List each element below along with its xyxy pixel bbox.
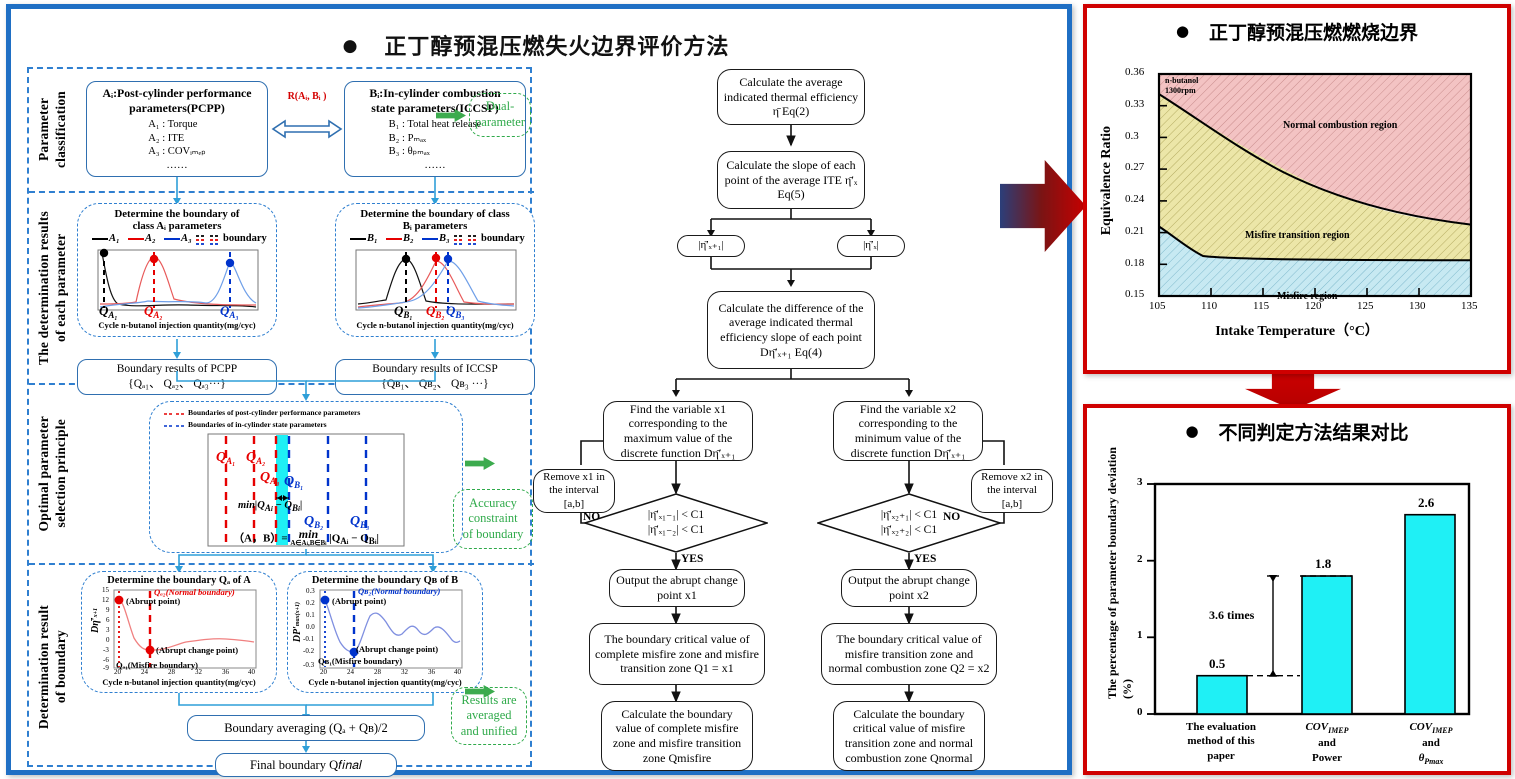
flow-node-calc-slope: Calculate the slope of each point of the…: [717, 151, 865, 209]
panelQA-yt-7: -6: [103, 656, 109, 664]
panelQA-xaxis: Cycle n-butanol injection quantity(mg/cy…: [82, 678, 276, 687]
flowchart: Calculate the average indicated thermal …: [541, 69, 1061, 769]
panelA-legend-A1: A₁: [109, 233, 120, 244]
rt-ytick-0.15: 0.15: [1125, 288, 1144, 300]
bullet-icon-top: ●: [1176, 22, 1189, 40]
relation-label: R(Aᵢ, Bᵢ ): [271, 91, 343, 102]
panelA-QA2: QA₂: [144, 303, 163, 320]
flow-decision-left-cond1: |η̄′ₓ₁₋₁| < C1: [648, 508, 704, 523]
box-iccsp-item-2: B₃ : θₚₘₐₓ: [389, 145, 482, 159]
flow-node-find-x2-text: Find the variable x2 corresponding to th…: [839, 402, 977, 461]
stage3-label-line2: selection principle: [53, 420, 68, 528]
right-top-title: ●正丁醇预混压燃燃烧边界: [1087, 18, 1507, 45]
right-top-panel: ●正丁醇预混压燃燃烧边界: [1083, 4, 1511, 374]
panelQA-xt-1: 24: [141, 668, 148, 676]
bar-value-1: 1.8: [1315, 556, 1331, 572]
callout-results-line2: averaged: [466, 708, 511, 724]
panelA-QA1: QA₁: [99, 303, 118, 320]
bar-cat0-line3: paper: [1161, 749, 1281, 763]
right-top-title-text: 正丁醇预混压燃燃烧边界: [1209, 22, 1418, 44]
panelQB-xt-1: 24: [347, 668, 354, 676]
bar-annotation-times: 3.6 times: [1209, 608, 1254, 623]
rb-ylabel: The percentage of parameter boundary dev…: [1105, 444, 1135, 699]
panelA-title1: Determine the boundary of: [78, 208, 276, 220]
rt-xtick-135: 135: [1461, 300, 1478, 312]
flow-node-calc-difference: Calculate the difference of the average …: [707, 291, 875, 369]
panelQB-ylabel: DP′max(x+1): [292, 602, 303, 642]
rt-xtick-125: 125: [1357, 300, 1374, 312]
green-arrow-icon-accuracy: [465, 457, 495, 470]
rt-ytick-0.36: 0.36: [1125, 66, 1144, 78]
bar-category-2: COVIMEP and θPmax: [1379, 720, 1483, 767]
panelQB-yt-1: 0.2: [306, 599, 315, 607]
stage2-label-line2: of each parameter: [53, 234, 68, 342]
bar-cat1-line2: and: [1275, 736, 1379, 750]
bullet-icon-bot: ●: [1185, 422, 1198, 440]
panelA-xaxis: Cycle n-butanol injection quantity(mg/cy…: [78, 320, 276, 330]
callout-accuracy-line3: of boundary: [463, 527, 524, 543]
bar-cat2-line3: θPmax: [1379, 751, 1483, 767]
optimal-QB3: QB₃: [350, 514, 369, 530]
result-pcpp-line1: Boundary results of PCPP: [117, 362, 237, 377]
optimal-min-expr: min|QAi − QBi|: [238, 500, 302, 513]
right-bottom-title: ●不同判定方法结果对比: [1087, 418, 1507, 445]
stage-label-parameter-classification: Parameter classification: [33, 69, 73, 191]
flow-node-critical-Q1: The boundary critical value of complete …: [589, 623, 765, 685]
panel-class-A-boundary: Determine the boundary of class Aᵢ param…: [77, 203, 277, 337]
box-pcpp-item-3: ……: [148, 159, 206, 173]
flow-node-calc-qmisfire-text: Calculate the boundary value of complete…: [607, 707, 747, 766]
rt-xtick-115: 115: [1253, 300, 1269, 312]
flow-decision-left: |η̄′ₓ₁₋₁| < C1 |η̄′ₓ₁₋₂| < C1: [584, 493, 768, 553]
flow-node-calc-difference-text: Calculate the difference of the average …: [713, 301, 869, 360]
panelB-xaxis: Cycle n-butanol injection quantity(mg/cy…: [336, 320, 534, 330]
bar-cat0-line2: method of this: [1161, 734, 1281, 748]
stage4-label-line2: of boundary: [53, 630, 68, 703]
panelQB-title: Determine the boundary Qʙ of B: [288, 575, 482, 586]
panelQA-xt-5: 40: [248, 668, 255, 676]
flow-node-critical-Q1-text: The boundary critical value of complete …: [595, 632, 759, 676]
panelB-QB2: QB₂: [426, 303, 445, 320]
flow-node-calc-qnormal-text: Calculate the boundary critical value of…: [839, 707, 979, 766]
stage3-label-line1: Optimal parameter: [36, 416, 51, 532]
box-iccsp-item-1: B₂ : Pₘₐₓ: [389, 132, 482, 146]
stages-container: Parameter classification Aᵢ:Post-cylinde…: [27, 67, 532, 767]
flow-node-output-x2: Output the abrupt change point x2: [841, 569, 977, 607]
panelQA-abrupt-change: (Abrupt change point): [156, 645, 238, 655]
rt-ytick-0.27: 0.27: [1125, 161, 1144, 173]
stage-label-line2: classification: [53, 91, 68, 168]
result-iccsp-line1: Boundary results of ICCSP: [372, 362, 498, 377]
right-bottom-panel: ●不同判定方法结果对比 0.5 1.8 2.6 3.6 times: [1083, 404, 1511, 775]
bar-cat1-line1: COVIMEP: [1275, 720, 1379, 736]
panelA-title2: class Aᵢ parameters: [78, 220, 276, 232]
flow-node-calc-avg-ite-text: Calculate the average indicated thermal …: [723, 75, 859, 119]
chart-annotation-line2: 1300rpm: [1165, 86, 1198, 96]
optimal-legend-blue: Boundaries of in-cylinder state paramete…: [188, 420, 327, 429]
flow-decision-right-cond1: |η̄′ₓ₂₊₁| < C1: [881, 508, 937, 523]
bar-cat1-line3: Power: [1275, 751, 1379, 765]
panelB-QB3: QB₃: [446, 303, 465, 320]
panelQB-xt-5: 40: [454, 668, 461, 676]
box-iccsp-item-0: B₁ : Total heat release: [389, 118, 482, 132]
flow-node-find-x1: Find the variable x1 corresponding to th…: [603, 401, 753, 461]
callout-accuracy-line2: constraint: [468, 511, 517, 527]
rt-xtick-110: 110: [1201, 300, 1217, 312]
flow-node-output-x1: Output the abrupt change point x1: [609, 569, 745, 607]
panelB-QB1: QB₁: [394, 303, 413, 320]
flow-node-critical-Q2: The boundary critical value of misfire t…: [821, 623, 997, 685]
panelQA-misfire-label: Qₐ₁(Misfire boundary): [116, 660, 198, 670]
panelQB-misfire-label: Qʙ₁(Misfire boundary): [318, 656, 402, 666]
flow-node-calc-avg-ite: Calculate the average indicated thermal …: [717, 69, 865, 125]
flow-node-output-x2-text: Output the abrupt change point x2: [847, 573, 971, 602]
flow-decision-right: |η̄′ₓ₂₊₁| < C1 |η̄′ₓ₂₊₂| < C1: [817, 493, 1001, 553]
flow-node-calc-qmisfire: Calculate the boundary value of complete…: [601, 701, 753, 771]
callout-results-line3: and unified: [461, 724, 518, 740]
rt-ytick-0.18: 0.18: [1125, 257, 1144, 269]
callout-results-averaged: Results are averaged and unified: [451, 687, 527, 745]
bar-value-0: 0.5: [1209, 656, 1225, 672]
panel-optimal-selection: Boundaries of post-cylinder performance …: [149, 401, 463, 553]
rt-ytick-0.30: 0.3: [1125, 130, 1139, 142]
flow-label-no-right: NO: [943, 511, 960, 523]
panelQA-yt-3: 6: [106, 616, 110, 624]
flow-node-critical-Q2-text: The boundary critical value of misfire t…: [827, 632, 991, 676]
rt-xtick-130: 130: [1409, 300, 1426, 312]
panelQA-xt-2: 28: [168, 668, 175, 676]
flow-node-output-x1-text: Output the abrupt change point x1: [615, 573, 739, 602]
flow-node-calc-slope-text: Calculate the slope of each point of the…: [723, 158, 859, 202]
callout-dual-parameter: Dual- parameter: [469, 93, 531, 137]
flow-label-no-left: NO: [583, 511, 600, 523]
flow-node-eta-x-text: |η̄′ₓ|: [863, 239, 879, 252]
panelQA-yt-5: 0: [106, 636, 110, 644]
stage-label-determination-results: The determination results of each parame…: [33, 193, 73, 383]
panelQB-normal-label: Qʙ₂(Normal boundary): [358, 586, 440, 596]
rb-ytick-3: 3: [1137, 476, 1143, 488]
flow-node-calc-qnormal: Calculate the boundary critical value of…: [833, 701, 985, 771]
panelQA-xt-4: 36: [222, 668, 229, 676]
panelQA-abrupt-point: (Abrupt point): [126, 596, 180, 606]
optimal-formula: （A，B）= min A∈Ai,B∈Bi |QAi − QBi|: [150, 529, 462, 548]
panelQA-yt-4: 3: [106, 626, 110, 634]
bullet-icon: ●: [343, 36, 359, 56]
panelQB-xt-3: 32: [401, 668, 408, 676]
stage-determination-results: The determination results of each parame…: [29, 193, 534, 385]
rt-ytick-0.21: 0.21: [1125, 225, 1144, 237]
panelA-legend-A2: A₂: [145, 233, 156, 244]
rt-ytick-0.24: 0.24: [1125, 193, 1144, 205]
rb-ytick-2: 2: [1137, 553, 1143, 565]
panelB-title1: Determine the boundary of class: [336, 208, 534, 220]
box-pcpp-item-0: A₁ : Torque: [148, 118, 206, 132]
panelB-legend-boundary: boundary: [481, 233, 525, 244]
box-pcpp-item-1: A₂ : ITE: [148, 132, 206, 146]
panelQA-yt-1: 12: [102, 596, 109, 604]
bar-category-0: The evaluation method of this paper: [1161, 720, 1281, 763]
callout-accuracy-constraint: Accuracy constraint of boundary: [453, 489, 533, 549]
flow-decision-right-cond2: |η̄′ₓ₂₊₂| < C1: [881, 523, 937, 538]
panelQB-yt-5: -0.2: [303, 647, 314, 655]
box-boundary-averaging: Boundary averaging (Qₐ + Qʙ)/2: [187, 715, 425, 741]
callout-dual-line1: Dual-: [486, 99, 514, 115]
bar-value-2: 2.6: [1418, 495, 1434, 511]
rb-ytick-0: 0: [1137, 706, 1143, 718]
flow-node-eta-x: |η̄′ₓ|: [837, 235, 905, 257]
callout-dual-line2: parameter: [475, 115, 525, 131]
panelQA-yt-0: 15: [102, 586, 109, 594]
main-title-text: 正丁醇预混压燃失火边界评价方法: [384, 35, 729, 60]
chart-annotation-fuel: n-butanol 1300rpm: [1165, 76, 1198, 95]
rt-ytick-0.33: 0.33: [1125, 98, 1144, 110]
flow-node-find-x2: Find the variable x2 corresponding to th…: [833, 401, 983, 461]
box-iccsp-item-3: ……: [389, 159, 482, 173]
panelQB-abrupt-change: (Abrupt change point): [356, 644, 438, 654]
optimal-QA2: QA₂: [246, 450, 265, 466]
panelQA-xt-0: 20: [114, 668, 121, 676]
panel-class-B-boundary: Determine the boundary of class Bᵢ param…: [335, 203, 535, 337]
panelB-legend-B2: B₂: [403, 233, 414, 244]
optimal-QA1: QA₁: [216, 450, 235, 466]
panelQB-yt-2: 0.1: [306, 611, 315, 619]
panelQB-xaxis: Cycle n-butanol injection quantity(mg/cy…: [288, 678, 482, 687]
rb-ytick-1: 1: [1137, 629, 1143, 641]
rt-ylabel: Equivalence Ratio: [1099, 126, 1115, 235]
box-pcpp-title2: parameters(PCPP): [129, 101, 225, 116]
bar-category-1: COVIMEP and Power: [1275, 720, 1379, 765]
stage-label-determination-boundary: Determination result of boundary: [33, 565, 73, 769]
region-label-transition: Misfire transition region: [1245, 230, 1350, 241]
left-main-panel: ●正丁醇预混压燃失火边界评价方法 Parameter classificatio…: [6, 4, 1072, 775]
stage-label-optimal-selection: Optimal parameter selection principle: [33, 385, 73, 563]
rt-xlabel: Intake Temperature（°C）: [1087, 320, 1507, 340]
panel-boundary-QB: Determine the boundary Qʙ of B 0.3 0.2 0…: [287, 571, 483, 693]
box-pcpp-item-2: A₃ : COVᵢₘₑₚ: [148, 145, 206, 159]
panelQB-yt-0: 0.3: [306, 587, 315, 595]
panelA-legend-boundary: boundary: [223, 233, 267, 244]
optimal-QB1: QB₁: [284, 474, 303, 490]
flow-node-find-x1-text: Find the variable x1 corresponding to th…: [609, 402, 747, 461]
panel-boundary-QA: Determine the boundary Qₐ of A 15 12 9 6…: [81, 571, 277, 693]
optimal-QA3: QA₃: [260, 470, 279, 486]
box-pcpp-title1: Aᵢ:Post-cylinder performance: [103, 86, 252, 101]
panelQB-xt-4: 36: [428, 668, 435, 676]
panelA-QA3: QA₃: [220, 303, 239, 320]
panelQA-xt-3: 32: [195, 668, 202, 676]
stage-parameter-classification: Parameter classification Aᵢ:Post-cylinde…: [29, 69, 534, 193]
box-pcpp: Aᵢ:Post-cylinder performance parameters(…: [86, 81, 268, 177]
callout-results-line1: Results are: [461, 693, 516, 709]
rt-xtick-105: 105: [1149, 300, 1166, 312]
bar-cat2-line1: COVIMEP: [1379, 720, 1483, 736]
bar-cat0-line1: The evaluation: [1161, 720, 1281, 734]
panelQA-title: Determine the boundary Qₐ of A: [82, 575, 276, 586]
region-label-normal: Normal combustion region: [1283, 120, 1397, 131]
flow-label-yes-left: YES: [681, 553, 703, 565]
panelQB-xt-0: 20: [320, 668, 327, 676]
box-final-boundary: Final boundary Q𝑓𝑖𝑛𝑎𝑙: [215, 753, 397, 777]
panelA-legend-A3: A₃: [181, 233, 192, 244]
comparison-bar-chart: [1087, 452, 1507, 742]
flow-decision-left-cond2: |η̄′ₓ₁₋₂| < C1: [648, 523, 704, 538]
page-title: ●正丁醇预混压燃失火边界评价方法: [11, 29, 1061, 61]
panelQB-yt-6: -0.3: [303, 661, 314, 669]
panelQA-yt-2: 9: [106, 606, 110, 614]
callout-accuracy-line1: Accuracy: [469, 496, 517, 512]
panelB-title2: Bᵢ parameters: [336, 220, 534, 232]
panelQB-abrupt-point: (Abrupt point): [332, 596, 386, 606]
flow-label-yes-right: YES: [914, 553, 936, 565]
panelQA-ylabel: Dη̄′x+1: [90, 608, 101, 633]
stage4-label-line1: Determination result: [36, 605, 51, 729]
flow-node-eta-x-plus-1-text: |η̄′ₓ₊₁|: [698, 239, 723, 252]
panelQA-yt-8: -9: [103, 664, 109, 672]
panelQB-xt-2: 28: [374, 668, 381, 676]
chart-annotation-line1: n-butanol: [1165, 76, 1198, 86]
panelB-legend-B1: B₁: [367, 233, 378, 244]
flow-node-eta-x-plus-1: |η̄′ₓ₊₁|: [677, 235, 745, 257]
bar-cat2-line2: and: [1379, 736, 1483, 750]
stage-label-line1: Parameter: [36, 98, 51, 161]
rt-xtick-120: 120: [1305, 300, 1322, 312]
panelQA-yt-6: -3: [103, 646, 109, 654]
panelQB-yt-3: 0.0: [306, 623, 315, 631]
stage2-label-line1: The determination results: [36, 211, 51, 365]
panelQB-yt-4: -0.1: [303, 635, 314, 643]
right-bottom-title-text: 不同判定方法结果对比: [1219, 422, 1409, 444]
panelB-legend-B3: B₃: [439, 233, 450, 244]
optimal-legend-red: Boundaries of post-cylinder performance …: [188, 408, 360, 417]
